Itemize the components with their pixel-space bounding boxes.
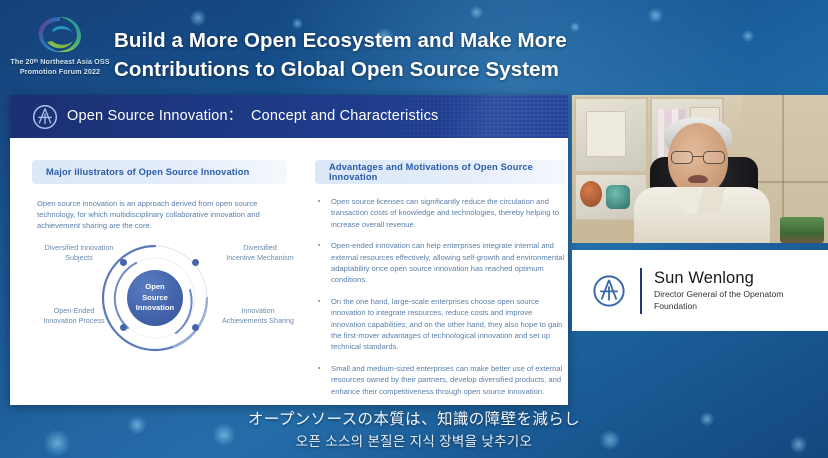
glasses-bridge bbox=[693, 156, 703, 157]
subtitle-area: オープンソースの本質は、知識の障壁を減らし 오픈 소스의 본질은 지식 장벽을 … bbox=[0, 408, 828, 452]
openatom-logo-icon bbox=[592, 274, 626, 308]
slide-title: Open Source Innovation： Concept and Char… bbox=[67, 106, 438, 127]
list-item: On the one hand, large-scale enterprises… bbox=[315, 296, 567, 352]
left-panel-chip-label: Major illustrators of Open Source Innova… bbox=[32, 167, 249, 177]
speaker-video-feed[interactable] bbox=[572, 95, 828, 243]
potted-plant bbox=[780, 217, 824, 243]
forum-logo: The 20ᵗʰ Northeast Asia OSS Promotion Fo… bbox=[6, 14, 114, 84]
diagram-label-bottom-left: Open-Ended Innovation Process bbox=[24, 306, 124, 325]
left-panel-paragraph: Open source innovation is an approach de… bbox=[37, 198, 277, 232]
list-item: Open source licenses can significantly r… bbox=[315, 196, 567, 230]
shelf-ornament bbox=[580, 181, 602, 207]
diagram-label-bottom-right: Innovation Achievements Sharing bbox=[210, 306, 306, 325]
left-panel-chip: Major illustrators of Open Source Innova… bbox=[32, 160, 287, 184]
list-item-text: On the one hand, large-scale enterprises… bbox=[331, 297, 562, 351]
bullet-dot-icon bbox=[318, 200, 320, 202]
speaker-name: Sun Wenlong bbox=[654, 269, 806, 288]
forum-logo-line1: The 20ᵗʰ Northeast Asia OSS bbox=[6, 57, 114, 67]
nameplate-divider bbox=[640, 268, 642, 314]
slide-body: Major illustrators of Open Source Innova… bbox=[10, 138, 568, 405]
speaker-nameplate: Sun Wenlong Director General of the Open… bbox=[572, 250, 828, 331]
subtitle-japanese: オープンソースの本質は、知識の障壁を減らし bbox=[0, 408, 828, 431]
open-source-innovation-diagram: Open Source Innovation Diversified Innov… bbox=[24, 238, 304, 353]
slide-header-bar: Open Source Innovation： Concept and Char… bbox=[10, 95, 568, 138]
subtitle-korean: 오픈 소스의 본질은 지식 장벽을 낮추기오 bbox=[0, 431, 828, 452]
glasses-lens-left bbox=[671, 151, 693, 164]
bullet-dot-icon bbox=[318, 367, 320, 369]
advantages-bullet-list: Open source licenses can significantly r… bbox=[315, 196, 567, 407]
shelf-documents bbox=[586, 111, 626, 157]
diagram-center-node: Open Source Innovation bbox=[127, 270, 183, 326]
speaker-role: Director General of the Openatom Foundat… bbox=[654, 288, 806, 312]
right-panel-chip: Advantages and Motivations of Open Sourc… bbox=[315, 160, 566, 184]
diagram-node-dot bbox=[192, 324, 199, 331]
diagram-label-top-left: Diversified Innovation Subjects bbox=[30, 243, 128, 262]
diagram-label-top-right: Diversified Incentive Mechanism bbox=[214, 243, 306, 262]
list-item: Small and medium-sized enterprises can m… bbox=[315, 363, 567, 397]
shelf-ornament bbox=[606, 185, 630, 209]
page-title: Build a More Open Ecosystem and Make Mor… bbox=[114, 26, 714, 84]
nameplate-text: Sun Wenlong Director General of the Open… bbox=[654, 269, 806, 312]
bullet-dot-icon bbox=[318, 244, 320, 246]
diagram-center-label: Open Source Innovation bbox=[136, 282, 174, 314]
right-panel-chip-label: Advantages and Motivations of Open Sourc… bbox=[315, 162, 566, 182]
bullet-dot-icon bbox=[318, 300, 320, 302]
list-item-text: Open source licenses can significantly r… bbox=[331, 197, 559, 229]
speaker-glasses bbox=[671, 151, 725, 164]
forum-logo-line2: Promotion Forum 2022 bbox=[6, 67, 114, 77]
broadcast-screen: The 20ᵗʰ Northeast Asia OSS Promotion Fo… bbox=[0, 0, 828, 458]
openatom-logo-icon bbox=[32, 104, 58, 130]
list-item-text: Open-ended innovation can help enterpris… bbox=[331, 241, 564, 284]
presentation-slide: Open Source Innovation： Concept and Char… bbox=[10, 95, 568, 405]
forum-logo-text: The 20ᵗʰ Northeast Asia OSS Promotion Fo… bbox=[6, 57, 114, 77]
event-header-banner: The 20ᵗʰ Northeast Asia OSS Promotion Fo… bbox=[0, 0, 828, 92]
diagram-node-dot bbox=[192, 259, 199, 266]
neaoss-swirl-logo-icon bbox=[34, 14, 86, 58]
list-item: Open-ended innovation can help enterpris… bbox=[315, 240, 567, 285]
list-item-text: Small and medium-sized enterprises can m… bbox=[331, 364, 562, 396]
glasses-lens-right bbox=[703, 151, 725, 164]
diagram-node-dot bbox=[120, 324, 127, 331]
